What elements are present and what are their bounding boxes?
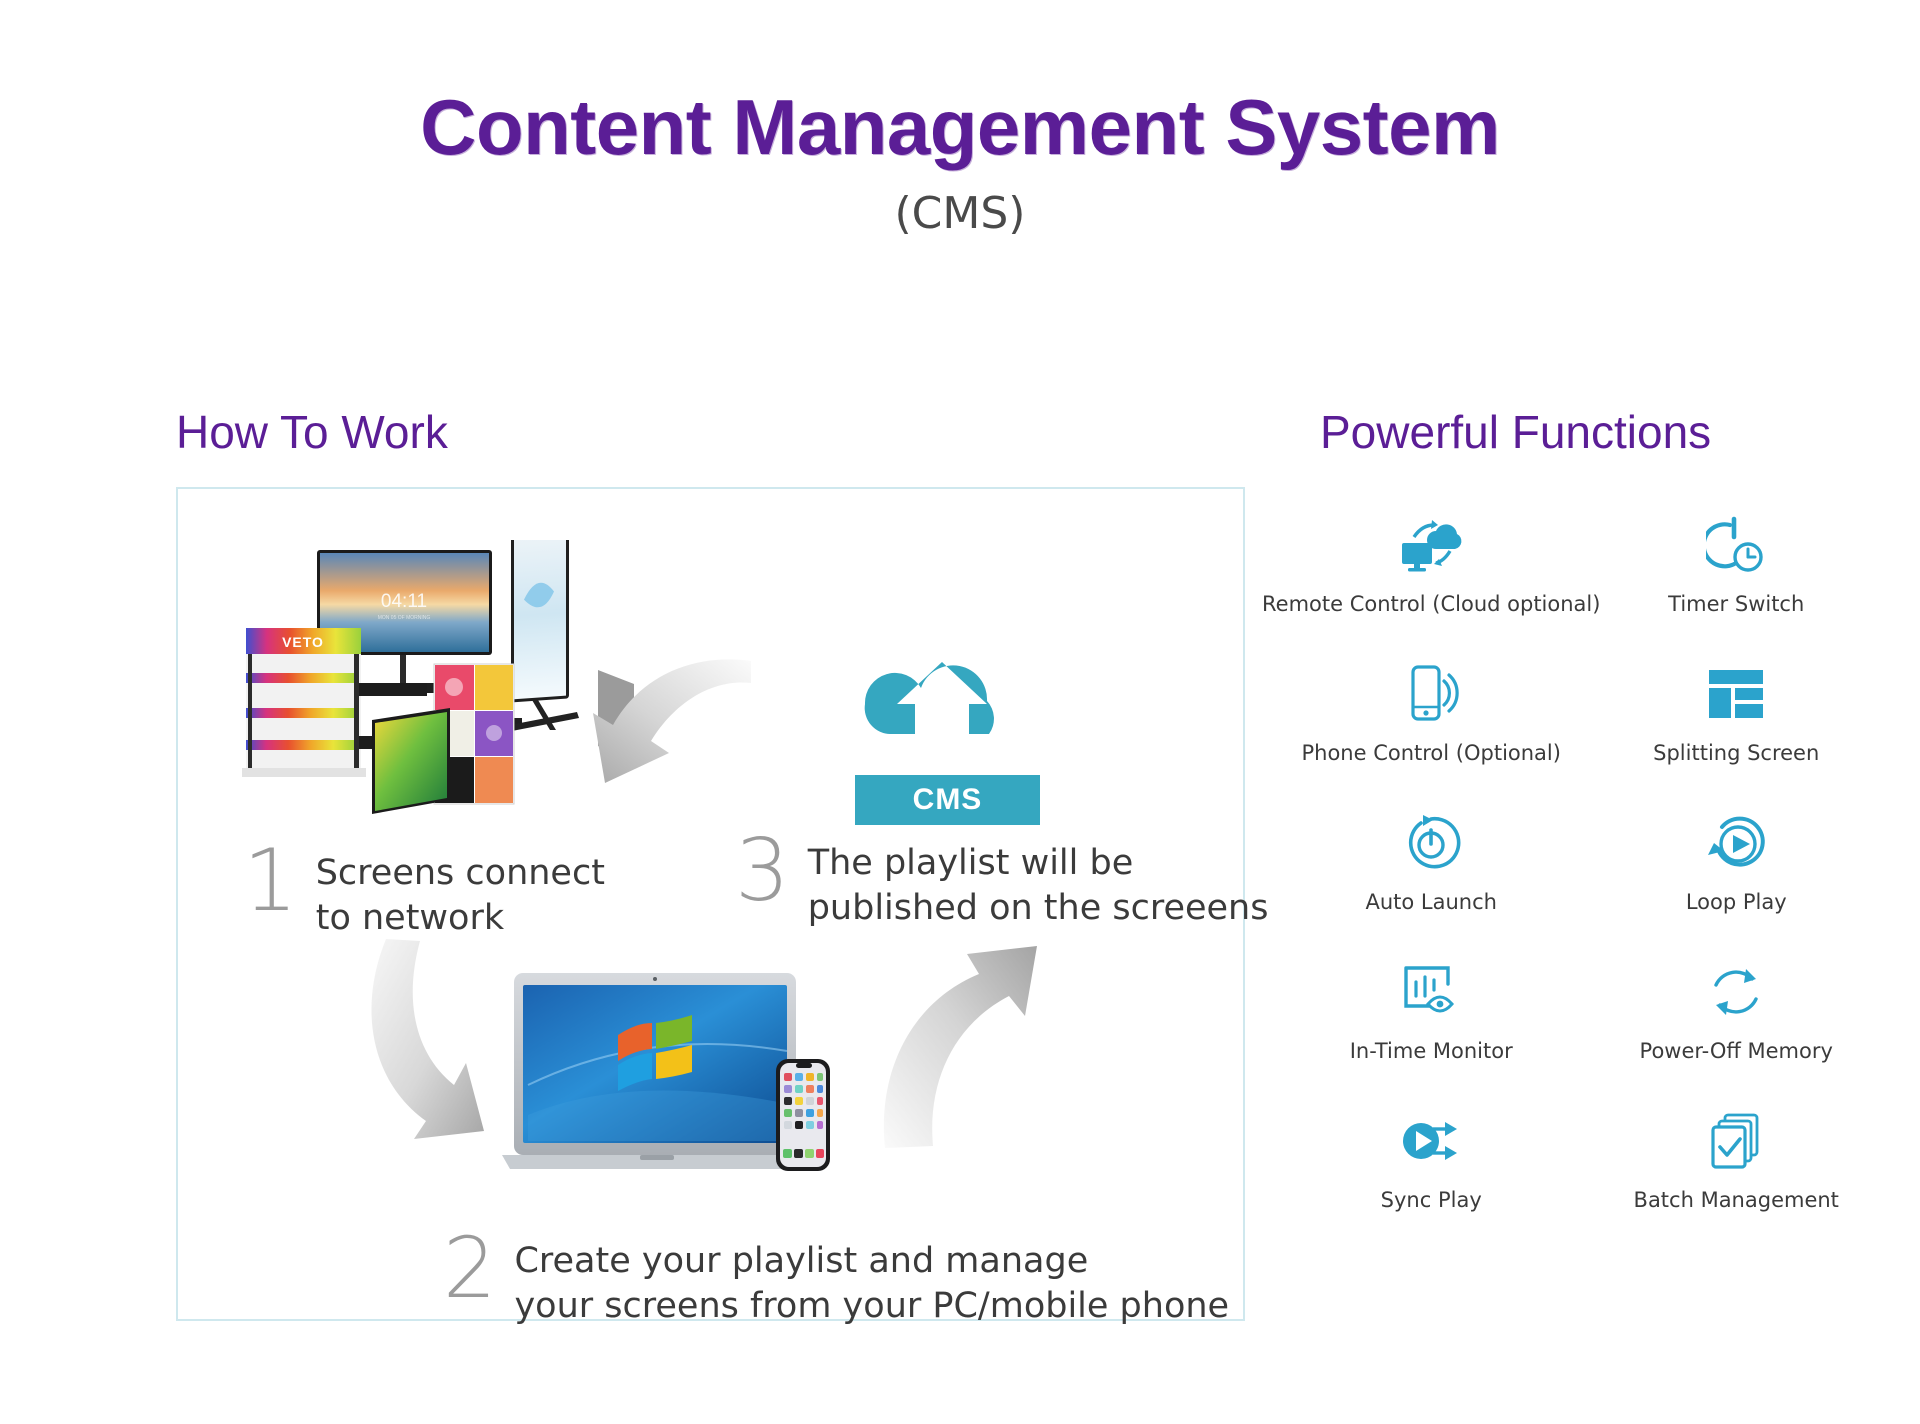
tilted-screen: [372, 708, 450, 814]
batch-management-icon: [1707, 1104, 1765, 1178]
function-label: In-Time Monitor: [1350, 1039, 1513, 1063]
loop-play-icon: [1706, 806, 1766, 880]
laptop: [502, 973, 808, 1169]
function-item-auto-launch[interactable]: Auto Launch: [1262, 806, 1600, 955]
svg-text:04:11: 04:11: [381, 591, 427, 612]
function-label: Power-Off Memory: [1640, 1039, 1833, 1063]
auto-launch-icon: [1401, 806, 1461, 880]
function-label: Sync Play: [1381, 1188, 1482, 1212]
step-3-number: 3: [735, 835, 790, 907]
step-1: 1 Screens connect to network: [243, 845, 605, 941]
title-block: Content Management System (CMS): [0, 88, 1920, 239]
laptop-and-phone-illustration: [500, 965, 882, 1190]
cms-cloud-graphic: CMS: [855, 655, 1075, 830]
step-1-text: Screens connect to network: [316, 845, 605, 941]
step-3: 3 The playlist will be published on the …: [735, 835, 1268, 931]
phone-control-icon: [1401, 657, 1461, 731]
function-label: Remote Control (Cloud optional): [1262, 592, 1600, 616]
arrow-cloud-to-screens: [565, 655, 755, 830]
svg-text:VETO: VETO: [282, 634, 324, 650]
cloud-upload-icon: [855, 655, 1030, 780]
sync-play-icon: [1399, 1104, 1463, 1178]
powerful-functions-heading: Powerful Functions: [1320, 405, 1711, 459]
in-time-monitor-icon: [1400, 955, 1462, 1029]
powerful-functions-grid: Remote Control (Cloud optional) Timer Sw…: [1262, 508, 1862, 1253]
cms-badge: CMS: [855, 775, 1040, 825]
function-label: Phone Control (Optional): [1301, 741, 1561, 765]
function-item-batch-management[interactable]: Batch Management: [1610, 1104, 1862, 1253]
page-title: Content Management System: [0, 88, 1920, 166]
function-label: Splitting Screen: [1653, 741, 1819, 765]
function-item-splitting-screen[interactable]: Splitting Screen: [1610, 657, 1862, 806]
step-1-number: 1: [243, 845, 298, 917]
timer-switch-icon: [1706, 508, 1766, 582]
function-item-loop-play[interactable]: Loop Play: [1610, 806, 1862, 955]
power-off-memory-icon: [1706, 955, 1766, 1029]
step-2-number: 2: [443, 1233, 496, 1304]
page-subtitle: (CMS): [0, 188, 1920, 239]
remote-control-cloud-icon: [1398, 508, 1464, 582]
function-item-remote-control[interactable]: Remote Control (Cloud optional): [1262, 508, 1600, 657]
function-item-power-off-memory[interactable]: Power-Off Memory: [1610, 955, 1862, 1104]
step-2-text: Create your playlist and manage your scr…: [514, 1233, 1229, 1329]
svg-text:MON 05 OF MORNING: MON 05 OF MORNING: [378, 615, 431, 621]
function-label: Batch Management: [1634, 1188, 1839, 1212]
function-item-sync-play[interactable]: Sync Play: [1262, 1104, 1600, 1253]
how-to-work-heading: How To Work: [176, 405, 448, 459]
function-label: Auto Launch: [1365, 890, 1496, 914]
function-item-timer-switch[interactable]: Timer Switch: [1610, 508, 1862, 657]
arrow-laptop-to-cloud: [875, 940, 1065, 1155]
function-label: Loop Play: [1686, 890, 1787, 914]
function-item-phone-control[interactable]: Phone Control (Optional): [1262, 657, 1600, 806]
function-label: Timer Switch: [1668, 592, 1804, 616]
smartphone: [776, 1059, 830, 1171]
step-2: 2 Create your playlist and manage your s…: [443, 1233, 1229, 1329]
function-item-in-time-monitor[interactable]: In-Time Monitor: [1262, 955, 1600, 1104]
splitting-screen-icon: [1705, 657, 1767, 731]
step-3-text: The playlist will be published on the sc…: [808, 835, 1269, 931]
